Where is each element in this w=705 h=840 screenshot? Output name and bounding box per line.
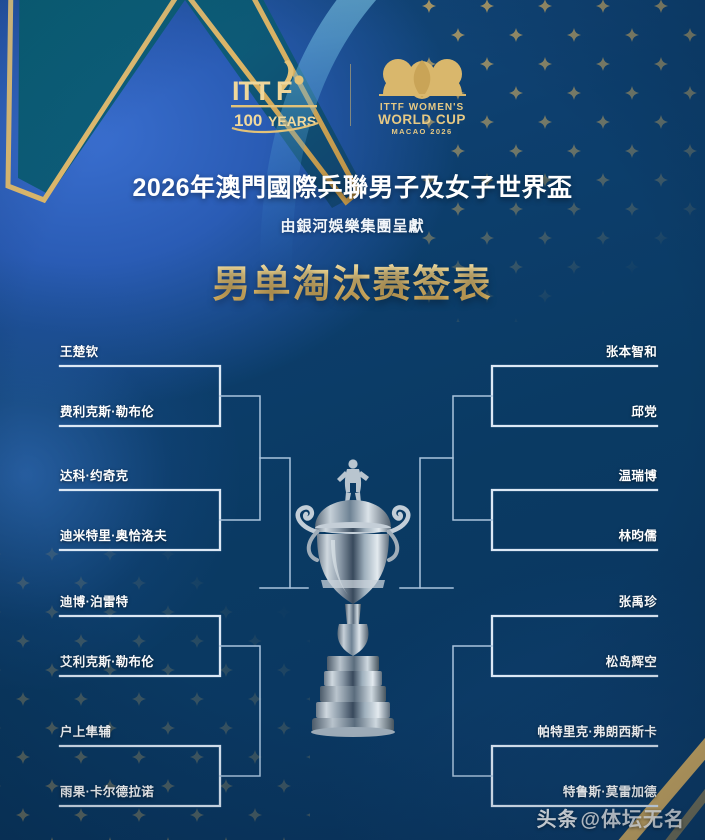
bracket-seed-right-3[interactable]: 温瑞博 bbox=[619, 465, 657, 484]
bracket-seed-right-8[interactable]: 特鲁斯·莫雷加德 bbox=[563, 781, 657, 800]
bracket-seed-left-6[interactable]: 艾利克斯·勒布伦 bbox=[60, 651, 154, 670]
watermark: 头条@体坛无名 bbox=[536, 803, 685, 832]
bracket-seed-left-2[interactable]: 费利克斯·勒布伦 bbox=[60, 401, 154, 420]
bracket-seed-right-4[interactable]: 林昀儒 bbox=[619, 525, 657, 544]
bracket-seed-right-6[interactable]: 松岛辉空 bbox=[606, 651, 657, 670]
watermark-handle: @体坛无名 bbox=[580, 809, 685, 831]
bracket-seed-left-5[interactable]: 迪博·泊雷特 bbox=[60, 591, 128, 610]
watermark-platform: 头条 bbox=[536, 809, 578, 831]
bracket-seed-left-4[interactable]: 迪米特里·奥恰洛夫 bbox=[60, 525, 167, 544]
bracket-seed-left-1[interactable]: 王楚钦 bbox=[60, 341, 98, 360]
bracket-seed-right-1[interactable]: 张本智和 bbox=[606, 341, 657, 360]
bracket-seed-left-8[interactable]: 雨果·卡尔德拉诺 bbox=[60, 781, 154, 800]
bracket-seed-left-3[interactable]: 达科·约奇克 bbox=[60, 465, 128, 484]
poster-canvas: ITT F 100 YEARS ITTF WOMEN'S bbox=[0, 0, 705, 840]
bracket-seed-left-7[interactable]: 户上隼辅 bbox=[60, 721, 111, 740]
bracket-seed-right-5[interactable]: 张禹珍 bbox=[619, 591, 657, 610]
world-cup-trophy bbox=[287, 452, 419, 737]
bracket-seed-right-7[interactable]: 帕特里克·弗朗西斯卡 bbox=[537, 721, 657, 740]
bracket-seed-right-2[interactable]: 邱党 bbox=[631, 401, 657, 420]
